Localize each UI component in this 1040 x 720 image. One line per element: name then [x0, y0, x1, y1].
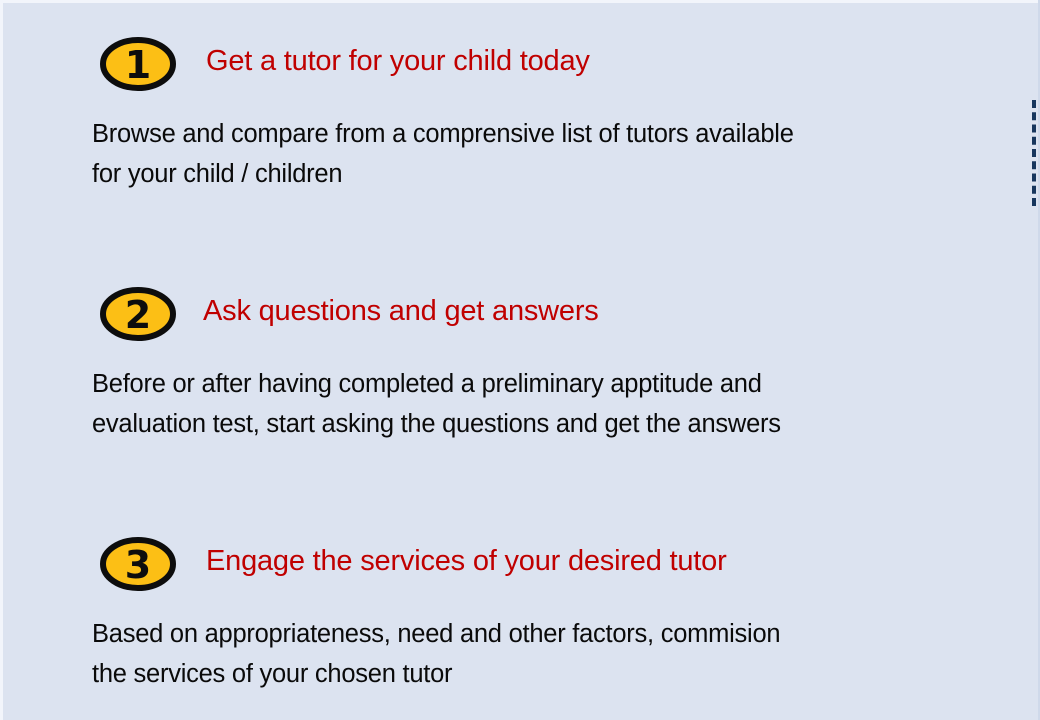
step-1-number-text: 1: [125, 43, 151, 87]
step-3-number-badge-icon: 3: [99, 536, 177, 592]
step-2-header: 2 Ask questions and get answers: [0, 286, 1040, 348]
step-2-description: Before or after having completed a preli…: [92, 364, 972, 444]
step-3-header: 3 Engage the services of your desired tu…: [0, 536, 1040, 598]
step-3-number-text: 3: [125, 543, 151, 587]
step-1-number-badge-icon: 1: [99, 36, 177, 92]
top-edge-strip: [0, 0, 1040, 3]
step-1-title: Get a tutor for your child today: [206, 45, 590, 78]
step-2-number-text: 2: [125, 293, 151, 337]
step-item-1: 1 Get a tutor for your child today Brows…: [0, 36, 1040, 98]
right-dashed-divider: [1032, 100, 1036, 206]
step-1-description: Browse and compare from a comprensive li…: [92, 114, 972, 194]
step-1-header: 1 Get a tutor for your child today: [0, 36, 1040, 98]
step-3-description: Based on appropriateness, need and other…: [92, 614, 972, 694]
step-2-number-badge-icon: 2: [99, 286, 177, 342]
slide-canvas: 1 Get a tutor for your child today Brows…: [0, 0, 1040, 720]
step-item-2: 2 Ask questions and get answers Before o…: [0, 286, 1040, 348]
left-edge-strip: [0, 0, 3, 720]
step-item-3: 3 Engage the services of your desired tu…: [0, 536, 1040, 598]
step-3-title: Engage the services of your desired tuto…: [206, 545, 727, 578]
step-2-title: Ask questions and get answers: [203, 295, 599, 328]
